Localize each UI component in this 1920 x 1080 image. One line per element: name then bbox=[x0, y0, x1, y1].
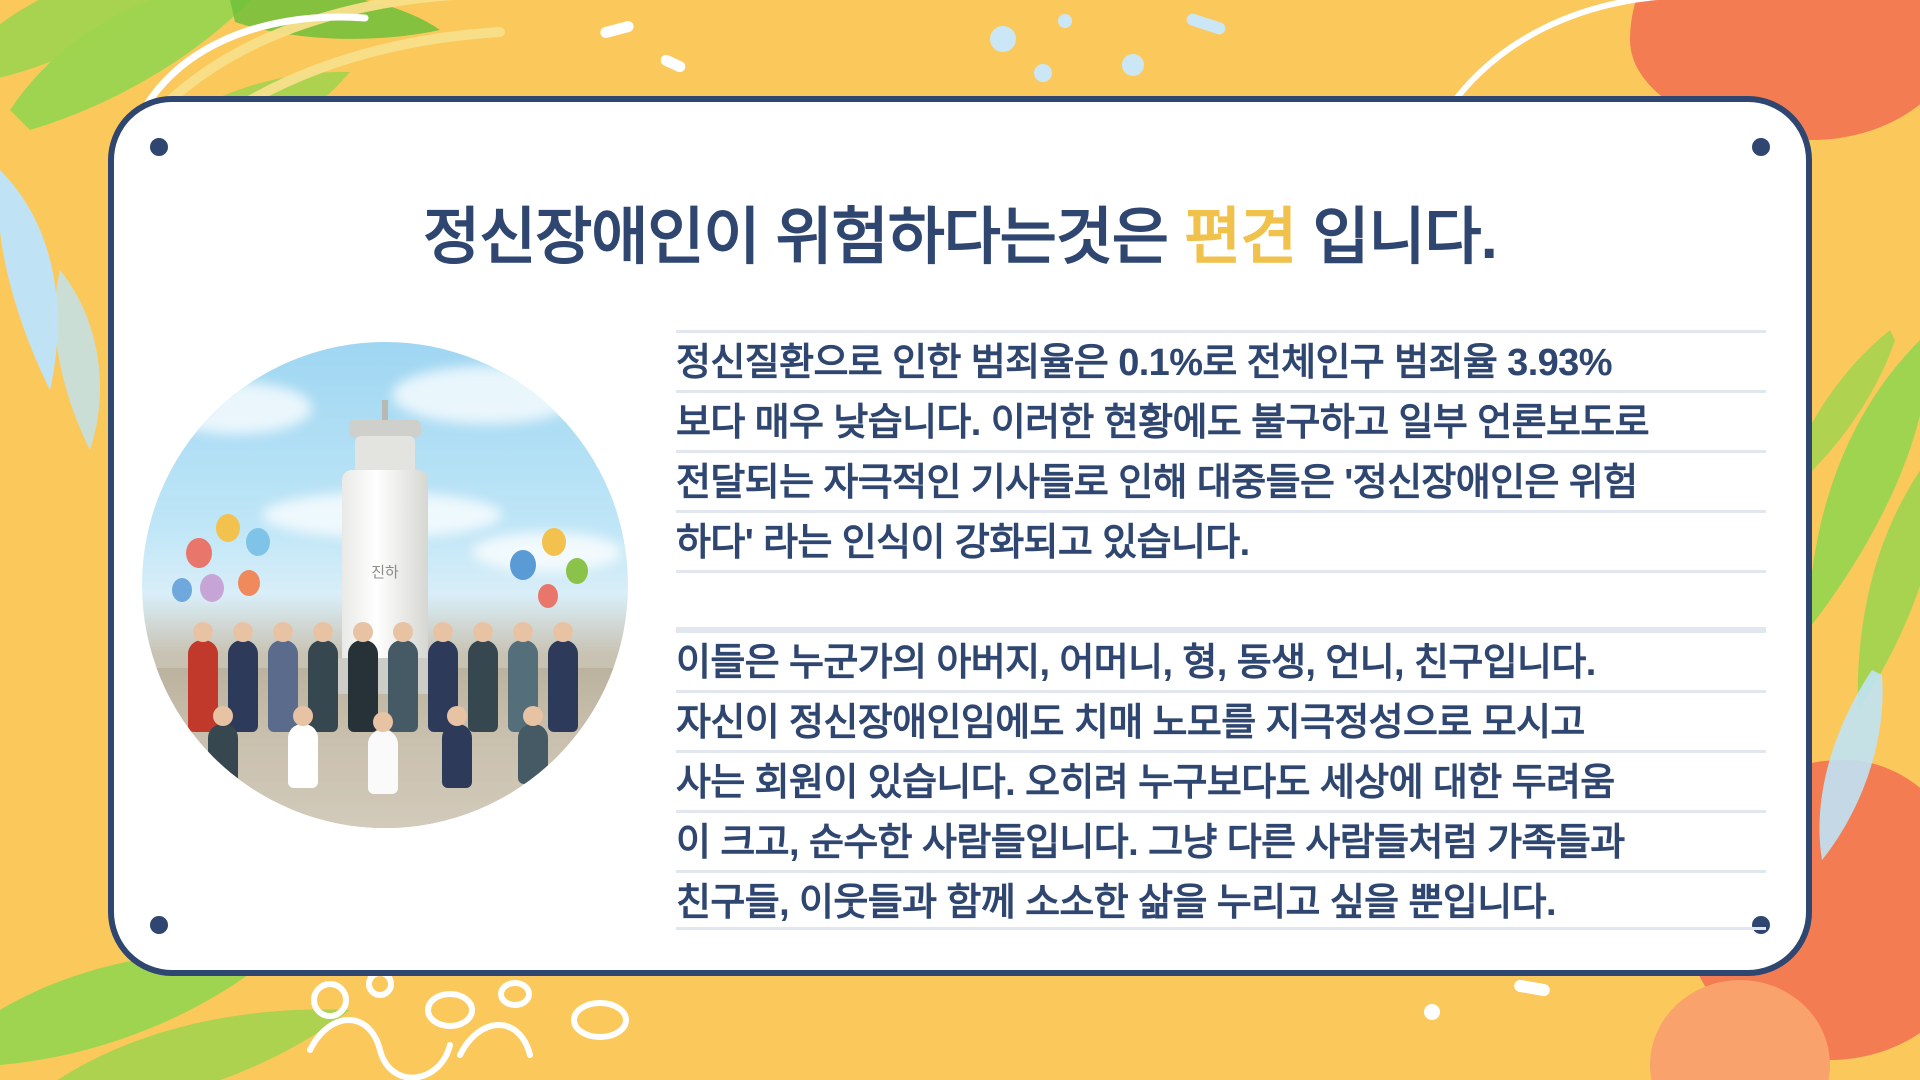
squiggle-white-bottom-icon bbox=[300, 960, 680, 1080]
dot-white-icon bbox=[1424, 1004, 1440, 1020]
text-line: 하다' 라는 인식이 강화되고 있습니다. bbox=[676, 510, 1766, 570]
lighthouse-label: 진하 bbox=[362, 562, 408, 584]
person-icon bbox=[288, 724, 318, 788]
screw-dot-bottom-left-icon bbox=[150, 916, 168, 934]
balloon-icon bbox=[566, 558, 588, 584]
dot-blue-icon bbox=[1122, 54, 1144, 76]
dash-white-icon bbox=[1513, 979, 1551, 997]
dash-white-icon bbox=[599, 20, 635, 39]
balloon-icon bbox=[542, 528, 566, 556]
title-text-after: 입니다. bbox=[1296, 203, 1497, 272]
page-title: 정신장애인이 위험하다는것은 편견 입니다. bbox=[114, 186, 1806, 276]
dash-white-icon bbox=[659, 53, 687, 74]
dash-blue-icon bbox=[1185, 12, 1227, 36]
text-line: 친구들, 이웃들과 함께 소소한 삶을 누리고 싶을 뿐입니다. bbox=[676, 870, 1766, 930]
paragraph-1: 정신질환으로 인한 범죄율은 0.1%로 전체인구 범죄율 3.93% 보다 매… bbox=[676, 330, 1766, 630]
balloon-icon bbox=[238, 570, 260, 596]
text-line: 사는 회원이 있습니다. 오히려 누구보다도 세상에 대한 두려움 bbox=[676, 750, 1766, 810]
balloon-icon bbox=[200, 574, 224, 602]
text-line: 정신질환으로 인한 범죄율은 0.1%로 전체인구 범죄율 3.93% bbox=[676, 330, 1766, 390]
person-icon bbox=[468, 640, 498, 732]
text-line: 보다 매우 낮습니다. 이러한 현황에도 불구하고 일부 언론보도로 bbox=[676, 390, 1766, 450]
balloon-icon bbox=[246, 528, 270, 556]
title-text-before: 정신장애인이 위험하다는것은 bbox=[423, 203, 1184, 272]
text-line: 자신이 정신장애인임에도 치매 노모를 지극정성으로 모시고 bbox=[676, 690, 1766, 750]
text-line-blank bbox=[676, 570, 1766, 630]
poster-card: 정신장애인이 위험하다는것은 편견 입니다. 진하 bbox=[108, 96, 1812, 976]
title-highlight: 편견 bbox=[1184, 203, 1296, 272]
balloon-icon bbox=[186, 538, 212, 568]
balloon-icon bbox=[172, 578, 192, 602]
dot-blue-icon bbox=[1034, 64, 1052, 82]
dot-blue-icon bbox=[1058, 14, 1072, 28]
person-icon bbox=[548, 640, 578, 732]
text-line: 전달되는 자극적인 기사들로 인해 대중들은 '정신장애인은 위험 bbox=[676, 450, 1766, 510]
dot-blue-icon bbox=[990, 26, 1016, 52]
screw-dot-top-right-icon bbox=[1752, 138, 1770, 156]
person-icon bbox=[442, 724, 472, 788]
text-line: 이들은 누군가의 아버지, 어머니, 형, 동생, 언니, 친구입니다. bbox=[676, 630, 1766, 690]
text-line: 이 크고, 순수한 사람들입니다. 그냥 다른 사람들처럼 가족들과 bbox=[676, 810, 1766, 870]
person-icon bbox=[368, 730, 398, 794]
screw-dot-top-left-icon bbox=[150, 138, 168, 156]
body-text: 정신질환으로 인한 범죄율은 0.1%로 전체인구 범죄율 3.93% 보다 매… bbox=[676, 330, 1766, 930]
balloon-icon bbox=[510, 550, 536, 580]
balloon-icon bbox=[216, 514, 240, 542]
person-icon bbox=[208, 724, 238, 788]
balloon-icon bbox=[538, 584, 558, 608]
group-photo: 진하 bbox=[142, 342, 628, 828]
paragraph-2: 이들은 누군가의 아버지, 어머니, 형, 동생, 언니, 친구입니다. 자신이… bbox=[676, 630, 1766, 930]
person-icon bbox=[518, 724, 548, 784]
